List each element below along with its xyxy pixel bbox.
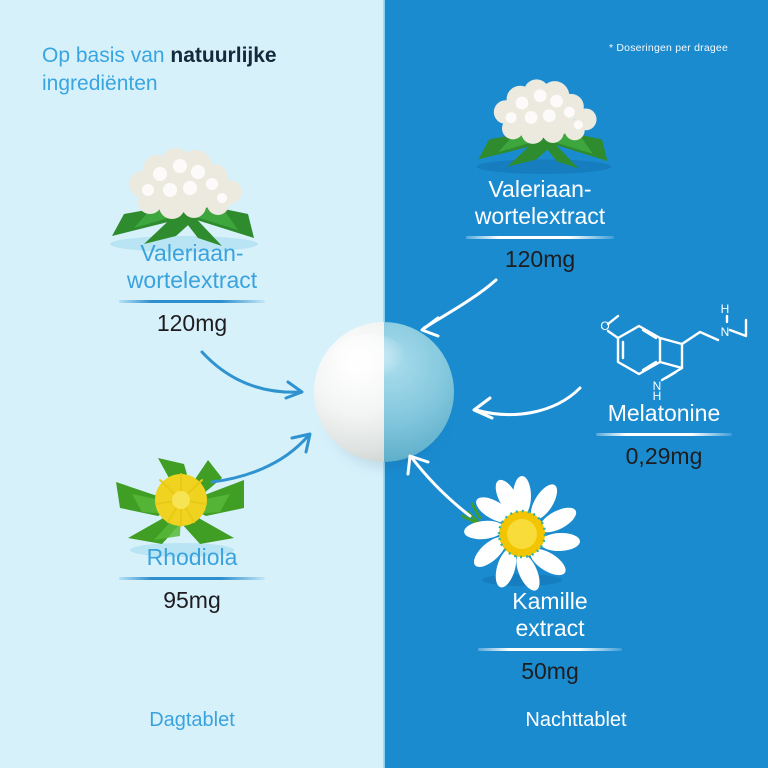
ingredient-name: Melatonine [560, 400, 768, 427]
atom-label-O: O [600, 319, 609, 333]
ingredients-infographic: Op basis van natuurlijke ingrediënten * … [0, 0, 768, 768]
arrow-rhodiola-to-tablet [208, 428, 320, 488]
dosage-footnote: * Doseringen per dragee [609, 42, 728, 54]
ingredient-name-line1: Kamille [512, 588, 587, 614]
tablet-highlight [332, 334, 406, 382]
ingredient-dose: 95mg [42, 587, 342, 614]
atom-label-N-amide: N [721, 325, 730, 339]
arrow-chamomile-to-tablet [404, 452, 484, 520]
ingredient-name-line1: Rhodiola [147, 544, 238, 570]
arrow-valerian-day-to-tablet [196, 348, 314, 404]
ingredient-dose: 0,29mg [560, 443, 768, 470]
ingredient-dose: 120mg [400, 246, 680, 273]
valerian-plant-icon-night [442, 68, 642, 178]
ingredient-valerian-day: Valeriaan- wortelextract 120mg [42, 240, 342, 337]
ingredient-chamomile: Kamille extract 50mg [430, 588, 670, 685]
ingredient-rhodiola: Rhodiola 95mg [42, 544, 342, 614]
ingredient-name-line1: Valeriaan- [488, 176, 591, 202]
headline-strong: natuurlijke [170, 44, 276, 67]
night-tablet-label: Nachttablet [384, 709, 768, 732]
ingredient-name: Valeriaan- wortelextract [400, 176, 680, 230]
underline-rule [478, 648, 622, 651]
arrow-valerian-night-to-tablet [418, 276, 514, 344]
underline-rule [596, 433, 732, 436]
ingredient-name-line2: wortelextract [475, 203, 605, 229]
atom-label-H-amide: H [721, 302, 730, 316]
ingredient-name-line2: extract [515, 615, 584, 641]
underline-rule [119, 300, 265, 303]
valerian-plant-icon-day [72, 140, 292, 252]
underline-rule [466, 236, 614, 239]
ingredient-valerian-night: Valeriaan- wortelextract 120mg [400, 176, 680, 273]
ingredient-name-line2: wortelextract [127, 267, 257, 293]
melatonin-molecule-icon: O N H N H [596, 300, 754, 396]
headline-lead: Op basis van [42, 44, 170, 67]
ingredient-dose: 50mg [430, 658, 670, 685]
headline-tail: ingrediënten [42, 72, 158, 95]
underline-rule [119, 577, 265, 580]
ingredient-name: Rhodiola [42, 544, 342, 571]
day-tablet-label: Dagtablet [0, 709, 384, 732]
ingredient-dose: 120mg [42, 310, 342, 337]
ingredient-name: Kamille extract [430, 588, 670, 642]
ingredient-name-line1: Valeriaan- [140, 240, 243, 266]
ingredient-name-line1: Melatonine [608, 400, 721, 426]
ingredient-melatonin: Melatonine 0,29mg [560, 400, 768, 470]
ingredient-name: Valeriaan- wortelextract [42, 240, 342, 294]
arrow-melatonin-to-tablet [468, 382, 586, 426]
page-title: Op basis van natuurlijke ingrediënten [42, 42, 352, 99]
